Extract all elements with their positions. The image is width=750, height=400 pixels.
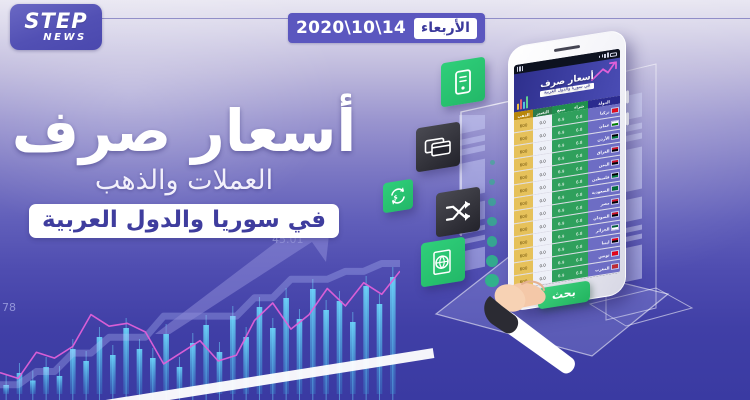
phone-side-button-2[interactable] [626, 112, 629, 125]
logo-primary-text: STEP [24, 11, 87, 32]
headline-pill: في سوريا والدول العربية [29, 204, 339, 238]
progress-dot [487, 217, 496, 226]
progress-dot [487, 236, 498, 247]
exchange-shuffle-icon[interactable] [436, 187, 480, 238]
flag-icon [611, 133, 619, 140]
headline-main: أسعار صرف [0, 100, 368, 163]
headline-block: أسعار صرف العملات والذهب في سوريا والدول… [0, 100, 368, 238]
banner-canvas: 78 45.01 [0, 0, 750, 400]
chart-annotation-0: 78 [2, 301, 16, 314]
credit-card-icon[interactable] [416, 122, 460, 173]
flag-icon [611, 237, 619, 244]
menu-icon[interactable] [517, 66, 523, 72]
step-news-logo[interactable]: STEP NEWS [10, 4, 102, 50]
phone-screen: أسعار صرف في سوريا والدول العربية الدولة… [514, 49, 620, 290]
mobile-payment-icon[interactable] [441, 57, 485, 108]
banner-bar-chart-icon [517, 96, 528, 110]
phone-side-button-1[interactable] [626, 90, 629, 103]
flag-icon [611, 224, 619, 231]
progress-dot [488, 198, 496, 206]
pointing-hand-illustration [480, 262, 610, 386]
flag-icon [611, 198, 619, 205]
flag-icon [611, 146, 619, 153]
headline-sub: العملات والذهب [0, 165, 368, 197]
date-value: 2020\10\14 [296, 18, 406, 38]
logo-secondary-text: NEWS [25, 33, 86, 43]
date-badge: 2020\10\14 الأربعاء [288, 13, 485, 43]
weekday-value: الأربعاء [414, 18, 477, 39]
progress-dot [490, 160, 495, 165]
flag-icon [611, 107, 619, 114]
app-title: أسعار صرف في سوريا والدول العربية [540, 72, 593, 97]
flag-icon [611, 211, 619, 218]
flag-icon [611, 263, 619, 270]
flag-icon [611, 120, 619, 127]
flag-icon [611, 250, 619, 257]
flag-icon [611, 159, 619, 166]
flag-icon [611, 172, 619, 179]
flag-icon [611, 185, 619, 192]
banner-rising-arrow-icon [591, 61, 617, 81]
svg-text:$: $ [394, 194, 398, 202]
exchange-rate-table: الدولة شراء مبيع التغيير الذهب تركيا6.86… [514, 96, 620, 290]
currency-exchange-icon[interactable]: $ [383, 179, 413, 214]
